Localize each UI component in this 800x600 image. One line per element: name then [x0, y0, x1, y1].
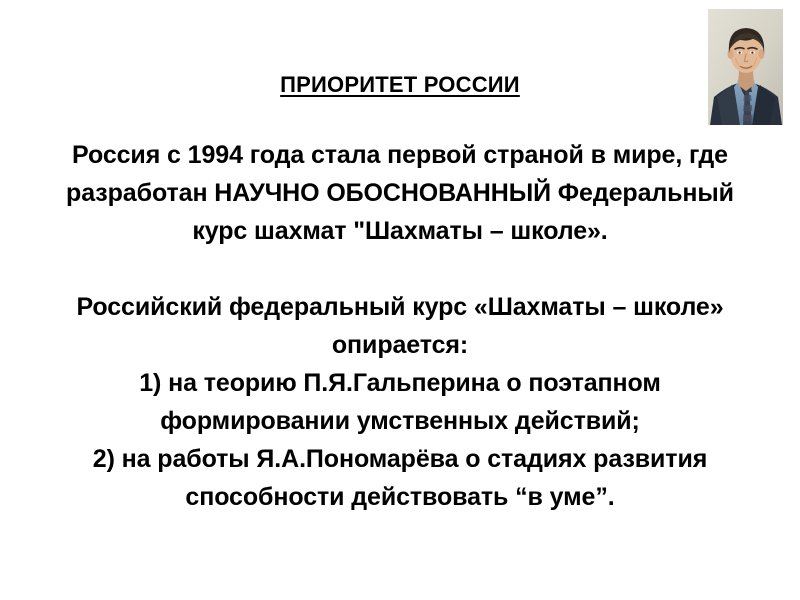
paragraph-1-line-2: разработан НАУЧНО ОБОСНОВАННЫЙ Федеральн… [20, 174, 780, 212]
slide-canvas: ПРИОРИТЕТ РОССИИ Россия с 1994 года стал… [0, 0, 800, 600]
paragraph-2: Российский федеральный курс «Шахматы – ш… [20, 288, 780, 516]
paragraph-spacer [20, 250, 780, 288]
paragraph-2-line-1: Российский федеральный курс «Шахматы – ш… [20, 288, 780, 326]
paragraph-1-line-3: курс шахмат "Шахматы – школе». [20, 212, 780, 250]
slide-title: ПРИОРИТЕТ РОССИИ [0, 70, 800, 100]
portrait-photo-graphic [708, 9, 783, 125]
paragraph-2-line-4: формировании умственных действий; [20, 402, 780, 440]
slide-title-text: ПРИОРИТЕТ РОССИИ [280, 72, 520, 97]
paragraph-2-line-2: опирается: [20, 326, 780, 364]
paragraph-2-line-6: способности действовать “в уме”. [20, 478, 780, 516]
paragraph-1: Россия с 1994 года стала первой страной … [20, 136, 780, 250]
paragraph-1-line-1: Россия с 1994 года стала первой страной … [20, 136, 780, 174]
slide-body: Россия с 1994 года стала первой страной … [20, 136, 780, 516]
portrait-photo [708, 9, 783, 125]
paragraph-2-line-5: 2) на работы Я.А.Пономарёва о стадиях ра… [20, 440, 780, 478]
paragraph-2-line-3: 1) на теорию П.Я.Гальперина о поэтапном [20, 364, 780, 402]
